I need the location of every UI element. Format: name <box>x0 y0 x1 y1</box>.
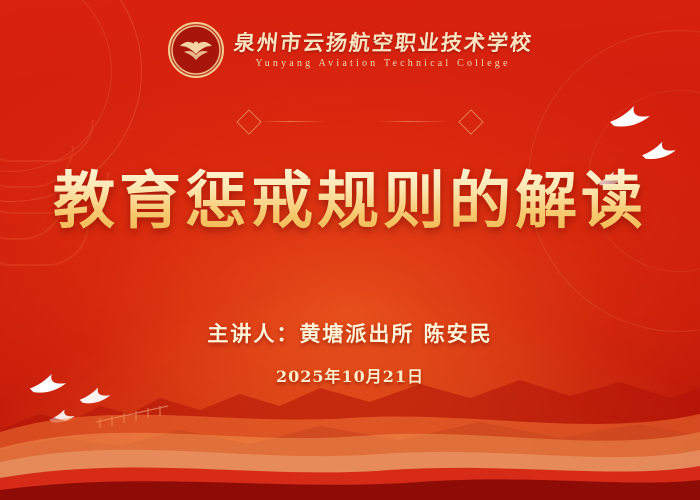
school-name-block: 泉州市云扬航空职业技术学校 Yunyang Aviation Technical… <box>234 32 533 69</box>
school-name-en: Yunyang Aviation Technical College <box>255 59 510 69</box>
school-name-cn: 泉州市云扬航空职业技术学校 <box>232 32 533 53</box>
page-title: 教育惩戒规则的解读 <box>53 150 647 240</box>
ornament-line <box>378 121 448 122</box>
eagle-emblem-icon <box>168 22 224 78</box>
ornament-line <box>258 121 328 122</box>
title-block: 教育惩戒规则的解读 <box>0 150 700 240</box>
dove-icon <box>608 104 652 130</box>
diamond-ornament-icon <box>236 109 261 134</box>
diamond-ornament-icon <box>458 109 483 134</box>
slide-canvas: 泉州市云扬航空职业技术学校 Yunyang Aviation Technical… <box>0 0 700 500</box>
slide-header: 泉州市云扬航空职业技术学校 Yunyang Aviation Technical… <box>0 18 700 82</box>
ribbon-wave-icon <box>0 370 700 500</box>
